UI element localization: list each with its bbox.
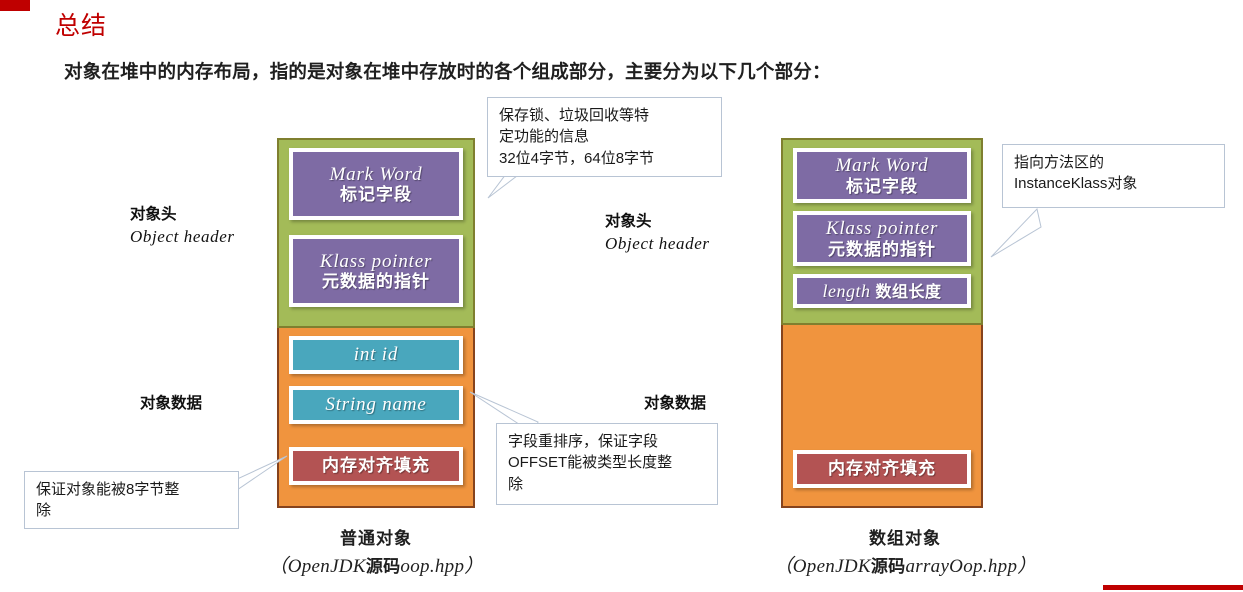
field-mark-word-plain: Mark Word 标记字段 <box>289 148 463 220</box>
label-object-header-right: 对象头 Object header <box>605 212 710 256</box>
array-object-diagram: Mark Word 标记字段 Klass pointer 元数据的指针 leng… <box>781 138 983 508</box>
plain-object-caption-cn: 普通对象 <box>240 524 512 549</box>
label-object-header-right-cn: 对象头 <box>605 212 710 233</box>
plain-object-data-block: int id String name 内存对齐填充 <box>277 328 475 508</box>
field-padding-array-cn: 内存对齐填充 <box>828 459 936 478</box>
label-object-data-right: 对象数据 <box>644 394 706 415</box>
field-mark-word-array-en: Mark Word <box>836 155 929 176</box>
array-object-caption: 数组对象 （OpenJDK源码arrayOop.hpp） <box>740 524 1070 578</box>
field-klass-pointer-plain: Klass pointer 元数据的指针 <box>289 235 463 307</box>
plain-object-caption-source: （OpenJDK源码oop.hpp） <box>240 551 512 578</box>
plain-object-src-prefix: （OpenJDK <box>268 556 365 577</box>
field-string-name: String name <box>289 386 463 424</box>
field-array-length-cn: 数组长度 <box>875 284 941 301</box>
callout-field-reorder-note: 字段重排序，保证字段 OFFSET能被类型长度整 除 <box>496 423 718 505</box>
callout-alignment-note: 保证对象能被8字节整 除 <box>24 471 239 529</box>
page-title: 总结 <box>55 6 107 42</box>
field-klass-pointer-plain-en: Klass pointer <box>320 251 432 272</box>
field-array-length: length 数组长度 <box>793 274 971 308</box>
label-object-data-left-cn: 对象数据 <box>140 394 202 415</box>
field-mark-word-plain-cn: 标记字段 <box>340 185 412 204</box>
plain-object-src-suffix: oop.hpp） <box>400 556 483 577</box>
label-object-data-right-cn: 对象数据 <box>644 394 706 415</box>
field-padding-array: 内存对齐填充 <box>793 450 971 488</box>
plain-object-caption: 普通对象 （OpenJDK源码oop.hpp） <box>240 524 512 578</box>
array-object-header-block: Mark Word 标记字段 Klass pointer 元数据的指针 leng… <box>781 138 983 325</box>
array-object-src-cn: 源码 <box>871 557 906 576</box>
field-array-length-en: length <box>822 281 870 301</box>
field-string-name-en: String name <box>325 394 426 415</box>
label-object-data-left: 对象数据 <box>140 394 202 415</box>
field-klass-pointer-array-cn: 元数据的指针 <box>828 240 936 259</box>
field-mark-word-array-cn: 标记字段 <box>846 177 918 196</box>
field-klass-pointer-array: Klass pointer 元数据的指针 <box>793 211 971 266</box>
top-left-accent-bar <box>0 0 30 11</box>
field-mark-word-array: Mark Word 标记字段 <box>793 148 971 203</box>
page-subtitle: 对象在堆中的内存布局，指的是对象在堆中存放时的各个组成部分，主要分为以下几个部分… <box>64 58 831 84</box>
field-klass-pointer-array-en: Klass pointer <box>826 218 938 239</box>
callout-klass-pointer-note: 指向方法区的 InstanceKlass对象 <box>1002 144 1225 208</box>
label-object-header-left: 对象头 Object header <box>130 205 235 249</box>
plain-object-src-cn: 源码 <box>366 557 401 576</box>
label-object-header-left-cn: 对象头 <box>130 205 235 226</box>
array-object-caption-cn: 数组对象 <box>740 524 1070 549</box>
label-object-header-right-en: Object header <box>605 233 710 256</box>
field-padding-plain-cn: 内存对齐填充 <box>322 456 430 475</box>
callout-mark-word-note: 保存锁、垃圾回收等特 定功能的信息 32位4字节，64位8字节 <box>487 97 722 177</box>
field-klass-pointer-plain-cn: 元数据的指针 <box>322 272 430 291</box>
field-int-id-en: int id <box>354 344 398 365</box>
array-object-src-prefix: （OpenJDK <box>773 556 870 577</box>
field-array-length-text: length 数组长度 <box>822 281 941 302</box>
array-object-caption-source: （OpenJDK源码arrayOop.hpp） <box>740 551 1070 578</box>
array-object-data-block: 内存对齐填充 <box>781 325 983 508</box>
field-int-id: int id <box>289 336 463 374</box>
klass-pointer-note-tail <box>975 205 1045 265</box>
label-object-header-left-en: Object header <box>130 226 235 249</box>
field-mark-word-plain-en: Mark Word <box>330 164 423 185</box>
bottom-right-accent-bar <box>1103 585 1243 590</box>
field-padding-plain: 内存对齐填充 <box>289 447 463 485</box>
plain-object-diagram: Mark Word 标记字段 Klass pointer 元数据的指针 int … <box>277 138 475 508</box>
plain-object-header-block: Mark Word 标记字段 Klass pointer 元数据的指针 <box>277 138 475 328</box>
array-object-src-suffix: arrayOop.hpp） <box>905 556 1036 577</box>
